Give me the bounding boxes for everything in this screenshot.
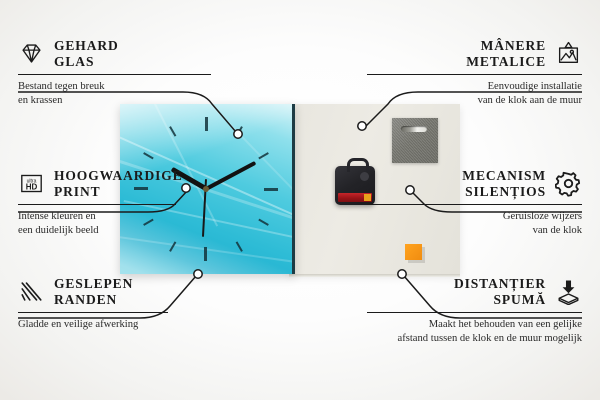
feature-header: Geslepen randen [18, 276, 233, 308]
feature-header: Mecanism silențios [367, 168, 582, 200]
feature-geslepen-randen: Geslepen randen Gladde en veilige afwerk… [18, 276, 233, 332]
feature-gehard-glas: Gehard glas Bestand tegen breuk en krass… [18, 38, 233, 108]
feather-streak [120, 234, 295, 265]
feature-divider [367, 204, 582, 205]
feature-description: Maakt het behouden van een gelijke afsta… [332, 318, 582, 346]
feature-divider [367, 312, 582, 313]
feature-mecanism-silentios: Mecanism silențios Geruisloze wijzers va… [367, 168, 582, 238]
feature-divider [367, 74, 582, 75]
infographic-canvas: Gehard glas Bestand tegen breuk en krass… [0, 0, 600, 400]
beveled-edges-icon [18, 278, 45, 305]
mechanism-hanging-loop [347, 158, 369, 172]
feature-header: ultra HD Hoogwaardige print [18, 168, 233, 200]
metal-hanger-plate [392, 118, 438, 163]
feature-description: Geruisloze wijzers van de klok [367, 210, 582, 238]
foam-spacer [405, 244, 422, 260]
feature-description: Gladde en veilige afwerking [18, 318, 233, 332]
feature-title: Gehard glas [54, 38, 119, 70]
feature-hoogwaardige-print: ultra HD Hoogwaardige print Intense kleu… [18, 168, 233, 238]
feature-divider [18, 204, 176, 205]
feature-title: Hoogwaardige print [54, 168, 183, 200]
svg-text:HD: HD [26, 183, 38, 192]
feature-title: Mânere metalice [466, 38, 546, 70]
arrow-down-pad-icon [555, 278, 582, 305]
feature-title: Geslepen randen [54, 276, 133, 308]
feature-divider [18, 312, 168, 313]
gear-icon [555, 170, 582, 197]
ultra-hd-icon: ultra HD [18, 170, 45, 197]
feature-description: Bestand tegen breuk en krassen [18, 80, 233, 108]
feature-description: Intense kleuren en een duidelijk beeld [18, 210, 233, 238]
feature-title: Mecanism silențios [462, 168, 546, 200]
feature-divider [18, 74, 211, 75]
feature-header: Gehard glas [18, 38, 233, 70]
hanger-slot [401, 126, 427, 132]
feature-header: Distanțier spumă [367, 276, 582, 308]
feature-header: Mânere metalice [367, 38, 582, 70]
feature-manere-metalice: Mânere metalice Eenvoudige installatie v… [367, 38, 582, 108]
diamond-icon [18, 40, 45, 67]
picture-frame-icon [555, 40, 582, 67]
feature-description: Eenvoudige installatie van de klok aan d… [367, 80, 582, 108]
feature-title: Distanțier spumă [454, 276, 546, 308]
feature-distantier-spuma: Distanțier spumă Maakt het behouden van … [367, 276, 582, 346]
